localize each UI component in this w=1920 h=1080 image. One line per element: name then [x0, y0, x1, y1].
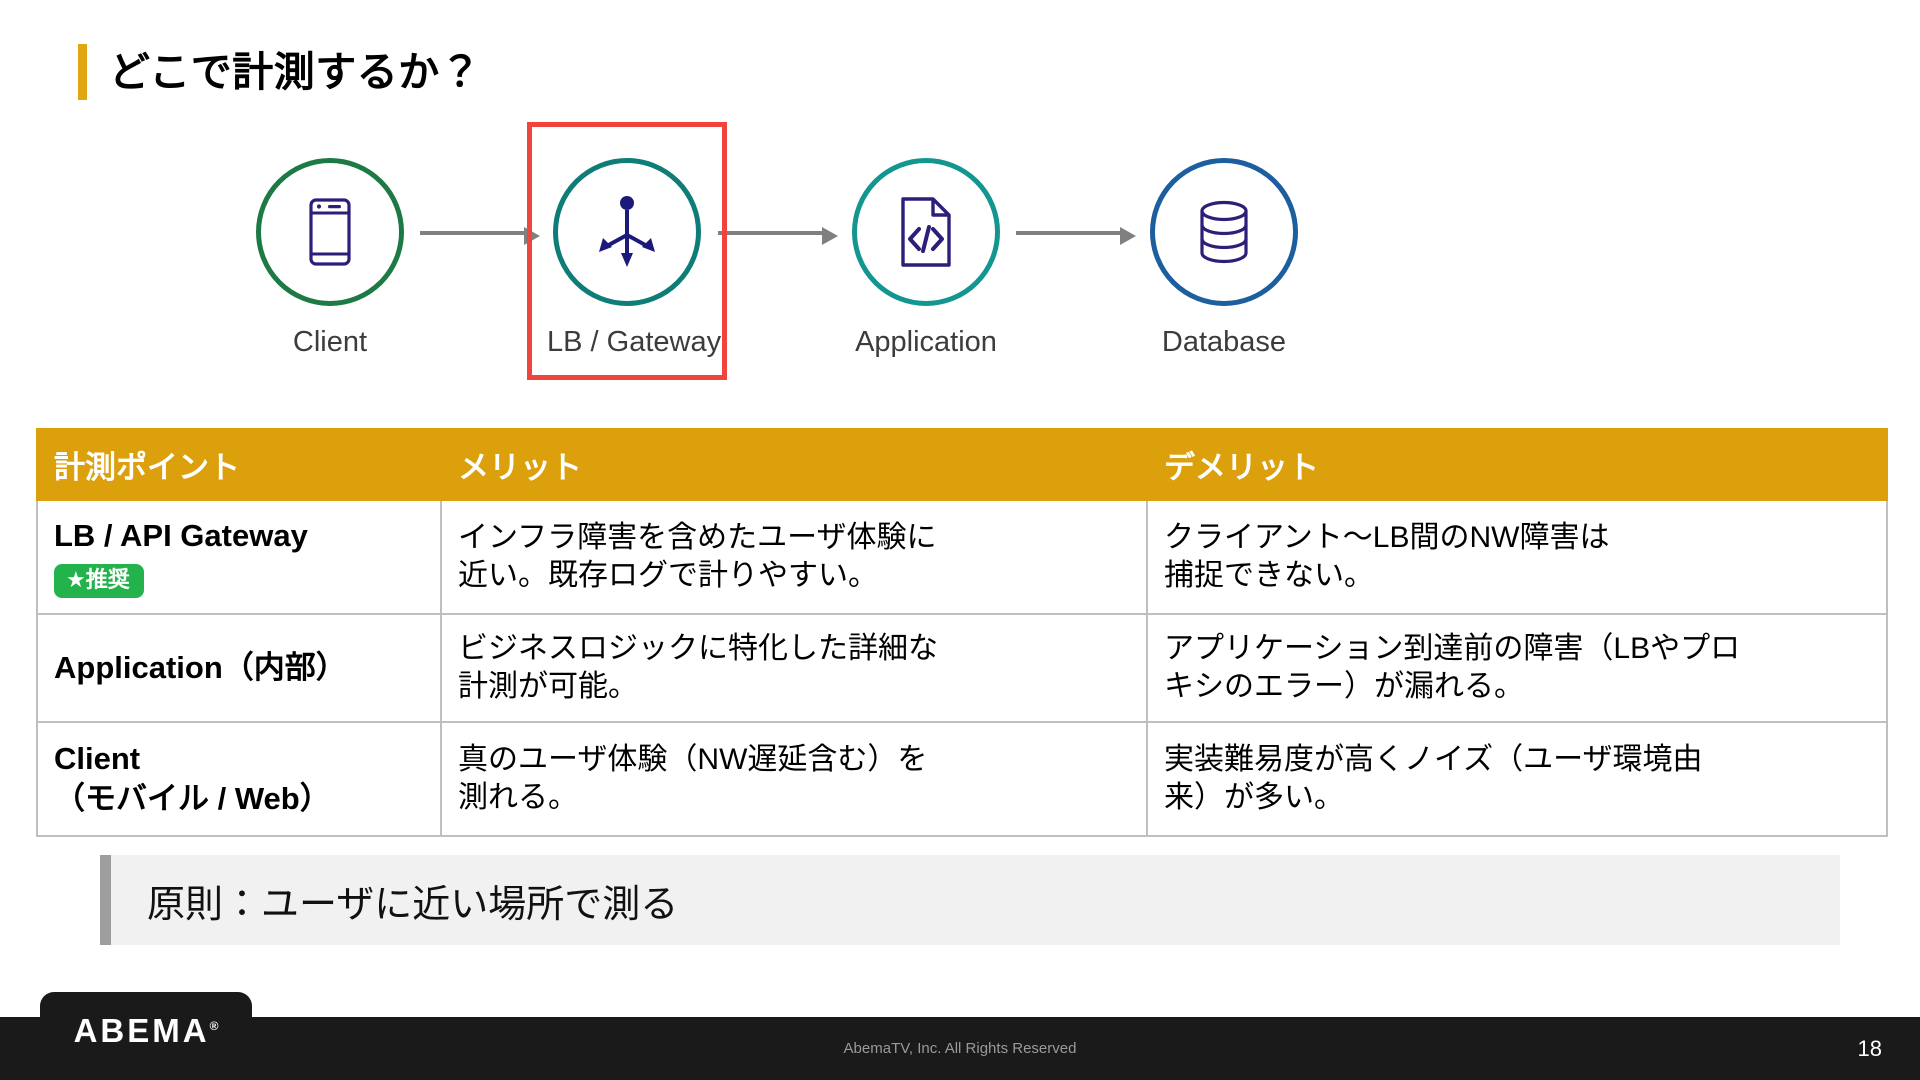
flow-node-label-client: Client	[250, 326, 410, 359]
cell-merit: 真のユーザ体験（NW遅延含む）を 測れる。	[441, 722, 1147, 836]
cell-demerit: クライアント〜LB間のNW障害は 捕捉できない。	[1147, 500, 1887, 614]
cell-point: LB / API Gateway ★推奨	[37, 500, 441, 614]
cell-demerit: 実装難易度が高くノイズ（ユーザ環境由 来）が多い。	[1147, 722, 1887, 836]
recommended-badge: ★推奨	[54, 564, 144, 598]
database-icon	[1194, 199, 1254, 265]
merit-line: ビジネスロジックに特化した詳細な	[458, 630, 1130, 668]
demerit-line: クライアント〜LB間のNW障害は	[1164, 519, 1870, 557]
code-file-icon	[897, 196, 955, 268]
slide-footer: AbemaTV, Inc. All Rights Reserved 18	[0, 1017, 1920, 1080]
arrow-lb-to-app	[718, 227, 838, 239]
demerit-line: 捕捉できない。	[1164, 557, 1870, 595]
arrow-app-to-db	[1016, 227, 1136, 239]
table-row: Client （モバイル / Web） 真のユーザ体験（NW遅延含む）を 測れる…	[37, 722, 1887, 836]
cell-point: Client （モバイル / Web）	[37, 722, 441, 836]
page-number: 18	[1858, 1017, 1882, 1080]
registered-mark: ®	[210, 1019, 219, 1033]
title-text: どこで計測するか？	[109, 52, 481, 93]
abema-logo: ABEMA®	[74, 1012, 219, 1050]
flow-node-application: Application	[846, 158, 1006, 359]
demerit-line: キシのエラー）が漏れる。	[1164, 668, 1870, 706]
point-name: Application（内部）	[54, 648, 424, 688]
flow-node-label-database: Database	[1144, 326, 1304, 359]
column-header-merit: メリット	[441, 429, 1147, 500]
cell-merit: ビジネスロジックに特化した詳細な 計測が可能。	[441, 614, 1147, 722]
flow-node-database: Database	[1144, 158, 1304, 359]
cell-demerit: アプリケーション到達前の障害（LBやプロ キシのエラー）が漏れる。	[1147, 614, 1887, 722]
merit-line: 近い。既存ログで計りやすい。	[458, 557, 1130, 595]
demerit-line: 来）が多い。	[1164, 779, 1870, 817]
column-header-demerit: デメリット	[1147, 429, 1887, 500]
table-header-row: 計測ポイント メリット デメリット	[37, 429, 1887, 500]
demerit-line: アプリケーション到達前の障害（LBやプロ	[1164, 630, 1870, 668]
page-title: どこで計測するか？	[78, 44, 481, 100]
abema-logo-wordmark: ABEMA	[74, 1012, 210, 1049]
cell-point: Application（内部）	[37, 614, 441, 722]
flow-node-client: Client	[250, 158, 410, 359]
cell-merit: インフラ障害を含めたユーザ体験に 近い。既存ログで計りやすい。	[441, 500, 1147, 614]
table-row: Application（内部） ビジネスロジックに特化した詳細な 計測が可能。 …	[37, 614, 1887, 722]
point-name: LB / API Gateway	[54, 516, 424, 556]
measurement-points-table: 計測ポイント メリット デメリット LB / API Gateway ★推奨 イ…	[36, 428, 1888, 837]
flow-node-label-application: Application	[846, 326, 1006, 359]
footer-copyright: AbemaTV, Inc. All Rights Reserved	[0, 1017, 1920, 1080]
point-name-line1: Client	[54, 739, 424, 779]
abema-logo-tab: ABEMA®	[40, 992, 252, 1080]
lb-gateway-highlight-box	[527, 122, 727, 380]
smartphone-icon	[304, 197, 356, 267]
demerit-line: 実装難易度が高くノイズ（ユーザ環境由	[1164, 741, 1870, 779]
callout-text: 原則：ユーザに近い場所で測る	[147, 873, 678, 928]
merit-line: 測れる。	[458, 779, 1130, 817]
point-name-line2: （モバイル / Web）	[54, 779, 424, 819]
callout-accent-bar	[100, 855, 111, 945]
client-circle	[256, 158, 404, 306]
principle-callout: 原則：ユーザに近い場所で測る	[100, 855, 1840, 945]
table-row: LB / API Gateway ★推奨 インフラ障害を含めたユーザ体験に 近い…	[37, 500, 1887, 614]
merit-line: インフラ障害を含めたユーザ体験に	[458, 519, 1130, 557]
column-header-point: 計測ポイント	[37, 429, 441, 500]
merit-line: 計測が可能。	[458, 668, 1130, 706]
title-accent-bar	[78, 44, 87, 100]
arrow-client-to-lb	[420, 227, 540, 239]
database-circle	[1150, 158, 1298, 306]
architecture-flow-diagram: Client LB / Gateway	[250, 150, 1650, 390]
merit-line: 真のユーザ体験（NW遅延含む）を	[458, 741, 1130, 779]
application-circle	[852, 158, 1000, 306]
